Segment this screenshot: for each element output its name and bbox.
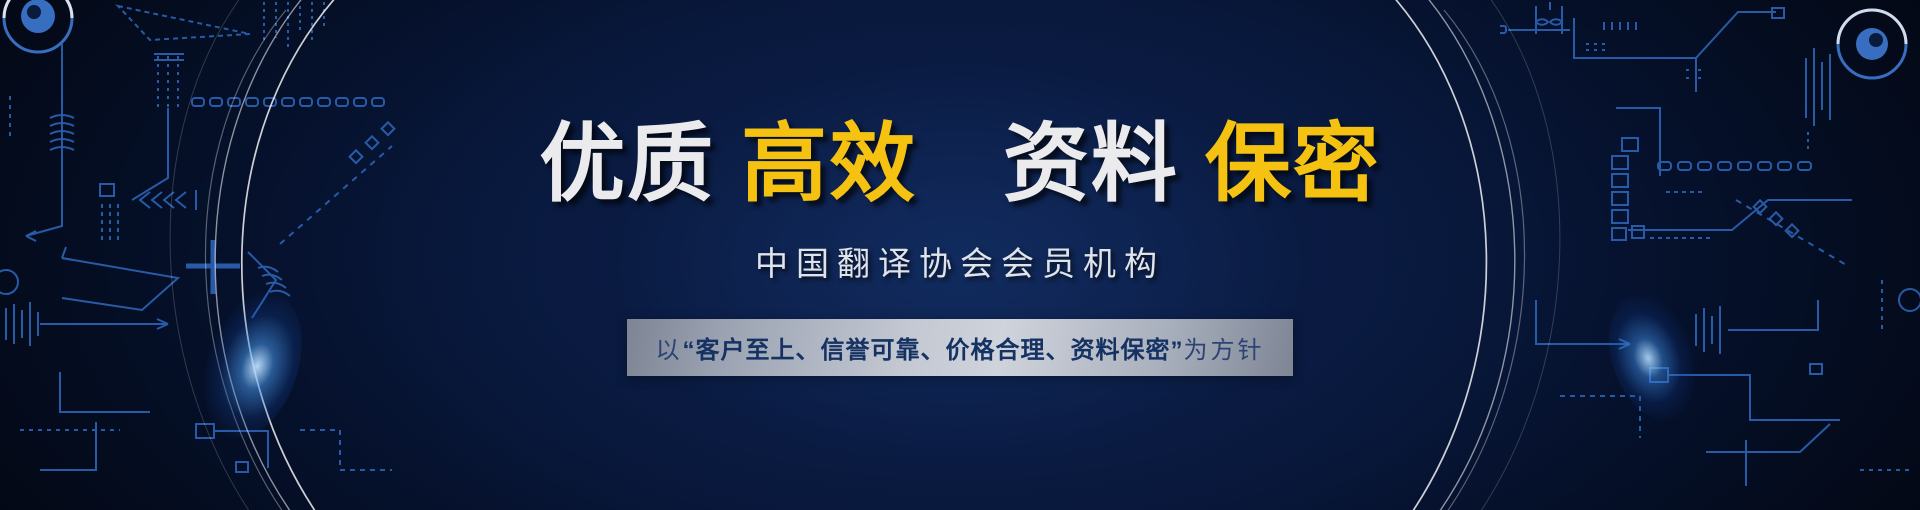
- headline-segment-2: 高效: [741, 116, 917, 212]
- headline-segment-1: 优质: [539, 116, 715, 212]
- promo-banner: 优质 高效 资料 保密 中国翻译协会会员机构 以“客户至上、信誉可靠、价格合理、…: [0, 0, 1920, 510]
- tagline-quote: “客户至上、信誉可靠、价格合理、资料保密”: [683, 337, 1184, 364]
- tagline-lead: 以: [656, 337, 683, 364]
- tagline-panel: 以“客户至上、信誉可靠、价格合理、资料保密”为方针: [627, 319, 1293, 376]
- headline-segment-4: 保密: [1205, 116, 1381, 212]
- banner-subtitle: 中国翻译协会会员机构: [755, 237, 1165, 285]
- banner-content: 优质 高效 资料 保密 中国翻译协会会员机构 以“客户至上、信誉可靠、价格合理、…: [0, 0, 1920, 510]
- tagline-tail: 为方针: [1184, 337, 1265, 364]
- banner-headline: 优质 高效 资料 保密: [539, 121, 1381, 207]
- headline-segment-3: 资料: [1003, 116, 1179, 212]
- tagline-text: 以“客户至上、信誉可靠、价格合理、资料保密”为方针: [656, 330, 1265, 365]
